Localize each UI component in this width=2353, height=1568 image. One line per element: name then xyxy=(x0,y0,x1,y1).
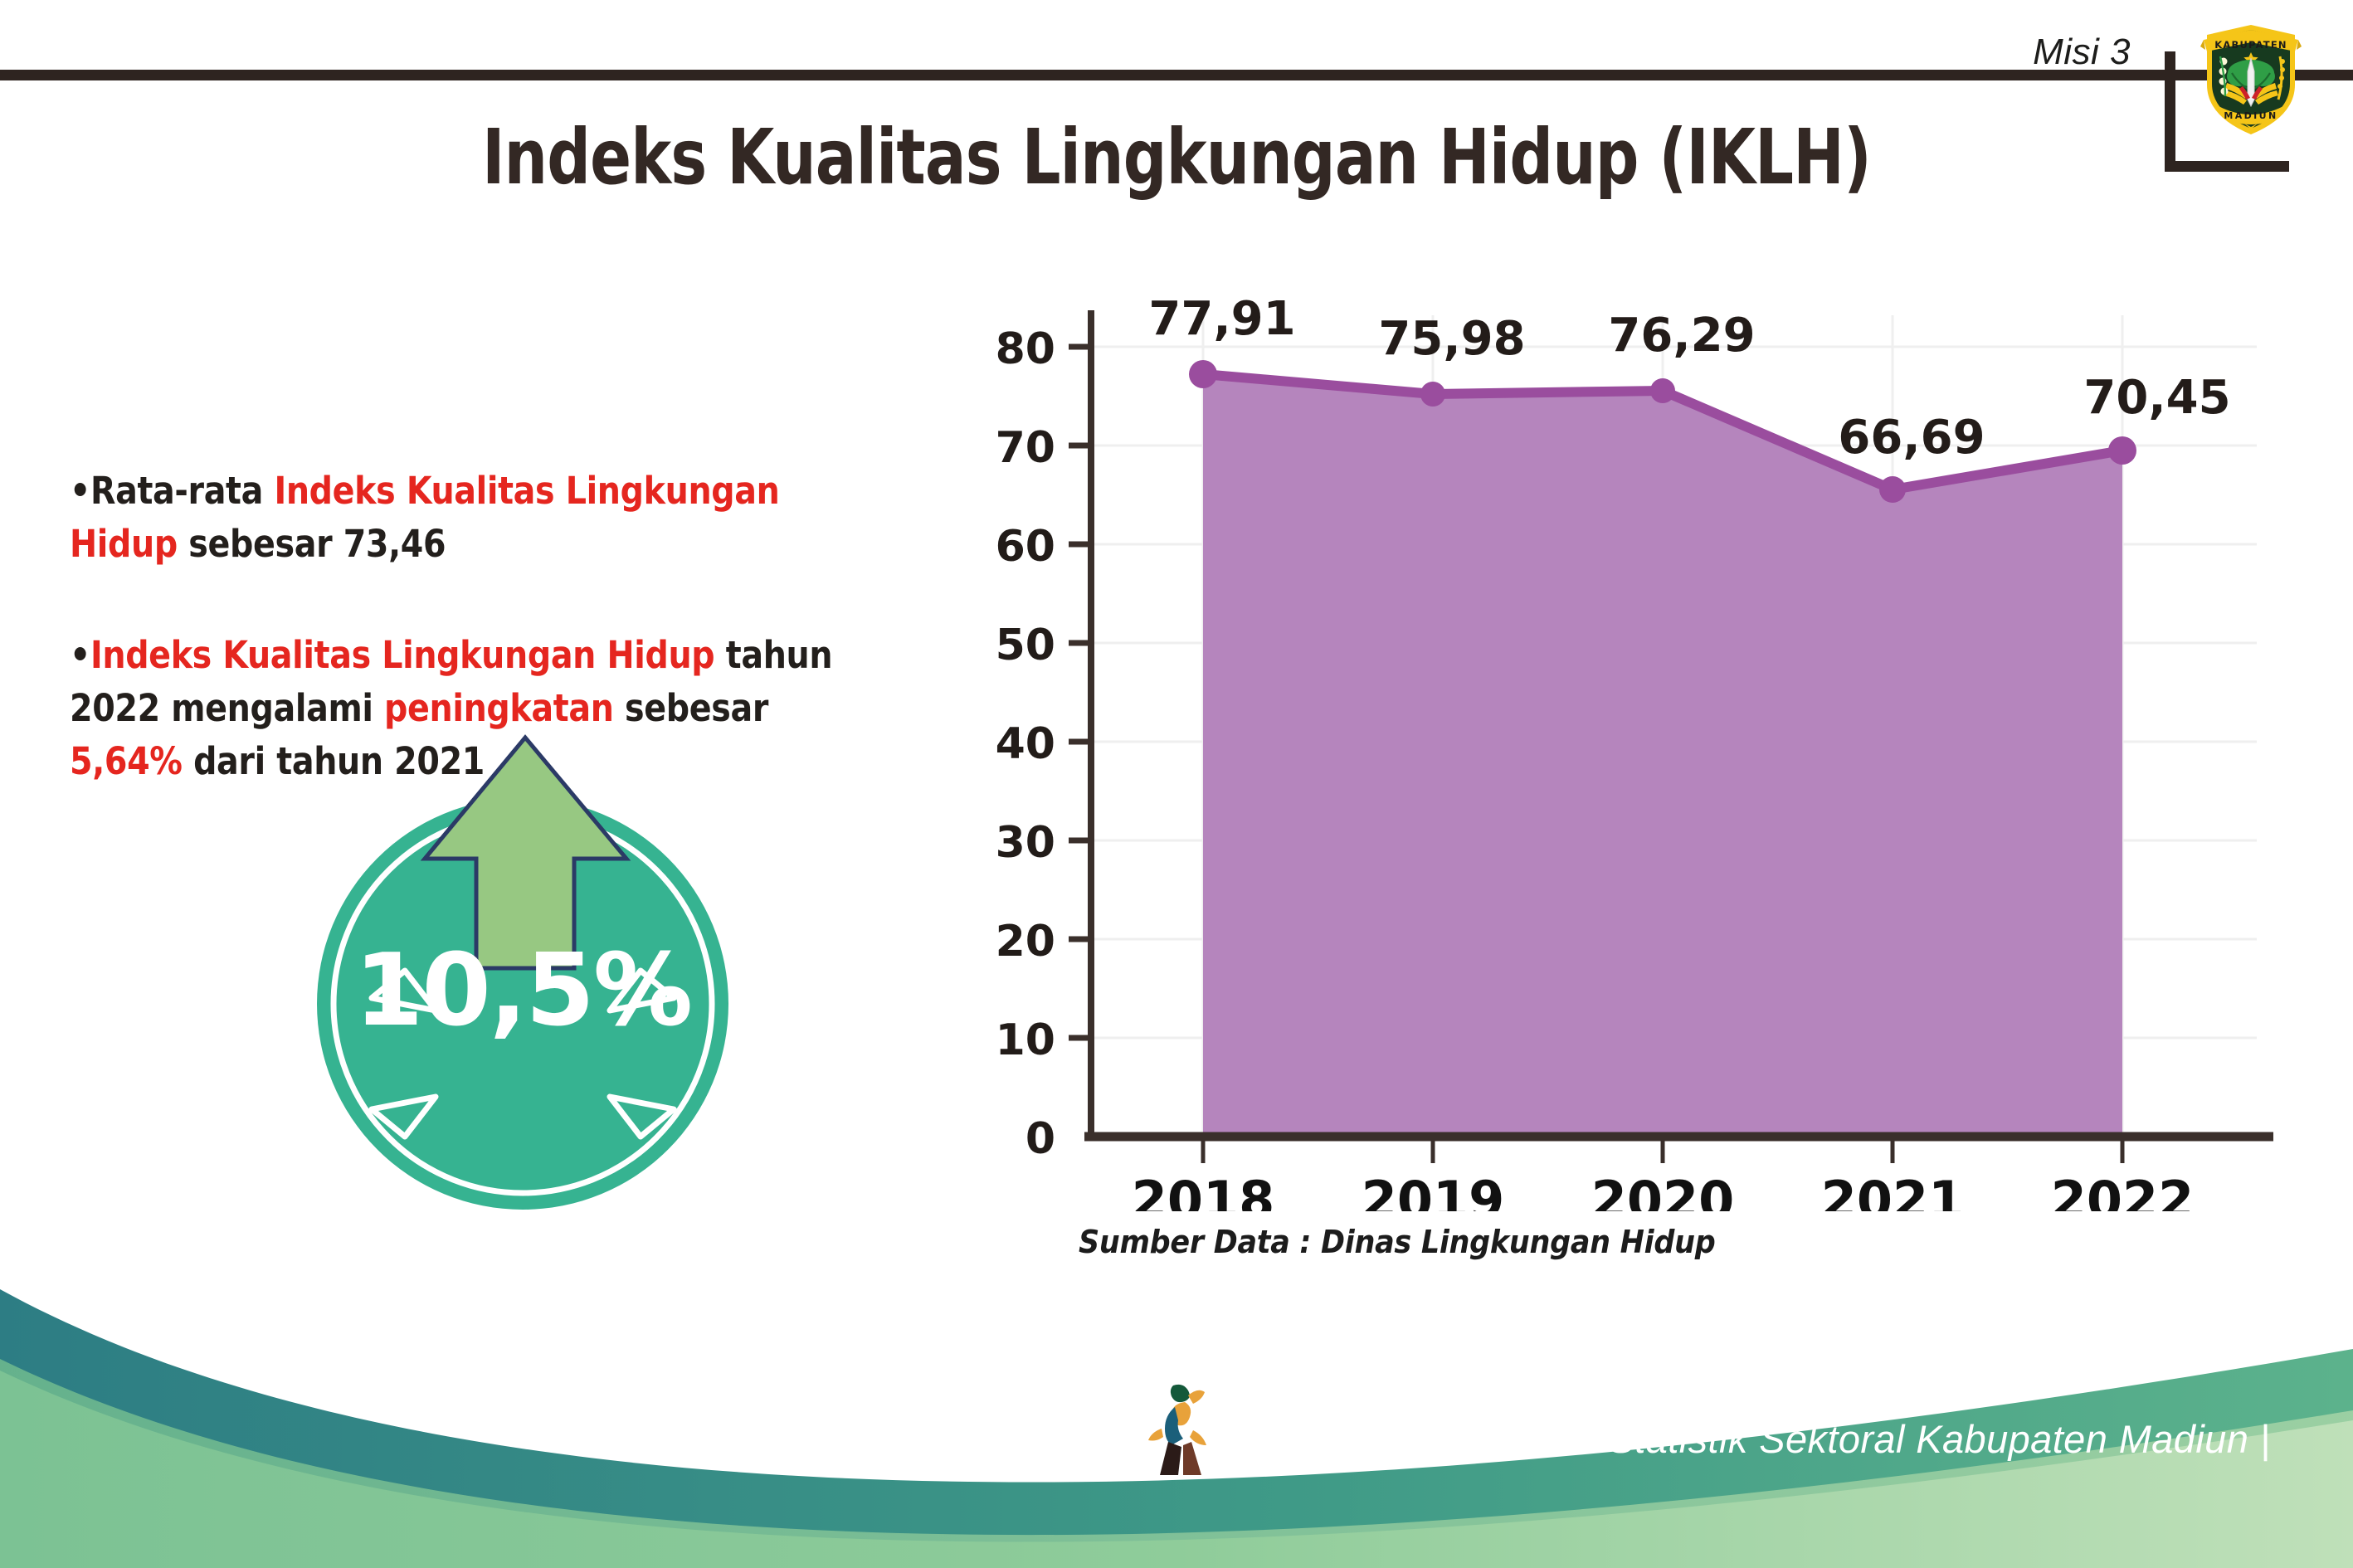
bracket-horizontal-bar xyxy=(2165,161,2289,172)
growth-badge: 10,5% xyxy=(315,796,730,1211)
chart-y-ticks xyxy=(1069,347,1091,1038)
kabupaten-madiun-logo-icon: KABUPATEN MADIUN xyxy=(2197,13,2305,138)
page-footer: Media Infografis Data Statistik Sektoral… xyxy=(0,1269,2353,1568)
chart-source-note: Sumber Data : Dinas Lingkungan Hidup xyxy=(1079,1224,1715,1260)
bullet-text: Rata-rata xyxy=(90,469,274,513)
data-label: 77,91 xyxy=(1148,292,1295,346)
data-label: 76,29 xyxy=(1608,309,1755,363)
y-tick-label: 40 xyxy=(996,719,1055,769)
data-label: 75,98 xyxy=(1378,312,1525,366)
bullet-highlight-text: Indeks Kualitas Lingkungan Hidup xyxy=(90,633,714,677)
data-label: 66,69 xyxy=(1838,411,1985,465)
chart-x-tick-labels: 2018 2019 2020 2021 2022 xyxy=(1132,1170,2195,1211)
y-tick-label: 20 xyxy=(996,917,1055,967)
y-tick-label: 80 xyxy=(996,324,1055,374)
svg-text:KABUPATEN: KABUPATEN xyxy=(2214,39,2287,51)
chart-y-tick-labels: 80 70 60 50 40 30 20 10 0 xyxy=(996,324,1055,1164)
x-tick-label: 2021 xyxy=(1821,1170,1965,1211)
iklh-area-chart: 80 70 60 50 40 30 20 10 0 2018 2019 2020… xyxy=(979,290,2273,1211)
footer-caption: Media Infografis Data Statistik Sektoral… xyxy=(1220,1416,2270,1462)
bullet-dot: • xyxy=(70,469,90,513)
y-tick-label: 60 xyxy=(996,522,1055,572)
bullet-highlight-text: peningkatan xyxy=(384,686,614,730)
y-tick-label: 70 xyxy=(996,423,1055,473)
misi-label: Misi 3 xyxy=(2033,32,2131,73)
x-tick-label: 2022 xyxy=(2051,1170,2195,1211)
y-tick-label: 30 xyxy=(996,818,1055,868)
chart-area-fill xyxy=(1203,374,2122,1137)
bullet-highlight-text: 5,64% xyxy=(70,739,183,783)
dancer-figure-icon xyxy=(1145,1381,1221,1478)
badge-value: 10,5% xyxy=(315,942,730,1041)
bullet-item: •Rata-rata Indeks Kualitas Lingkungan Hi… xyxy=(70,465,844,571)
bullet-dot: • xyxy=(70,633,90,677)
data-label: 70,45 xyxy=(2083,371,2230,425)
svg-text:MADIUN: MADIUN xyxy=(2224,110,2277,121)
y-tick-label: 0 xyxy=(1025,1114,1055,1164)
bracket-vertical-bar xyxy=(2165,51,2175,172)
y-tick-label: 50 xyxy=(996,621,1055,670)
bullet-text: sebesar 73,46 xyxy=(178,522,446,566)
bullet-text: sebesar xyxy=(614,686,768,730)
x-tick-label: 2018 xyxy=(1132,1170,1275,1211)
header-divider-rule xyxy=(0,70,2353,80)
y-tick-label: 10 xyxy=(996,1015,1055,1065)
x-tick-label: 2019 xyxy=(1362,1170,1505,1211)
x-tick-label: 2020 xyxy=(1591,1170,1735,1211)
page-title: Indeks Kualitas Lingkungan Hidup (IKLH) xyxy=(236,113,2118,202)
